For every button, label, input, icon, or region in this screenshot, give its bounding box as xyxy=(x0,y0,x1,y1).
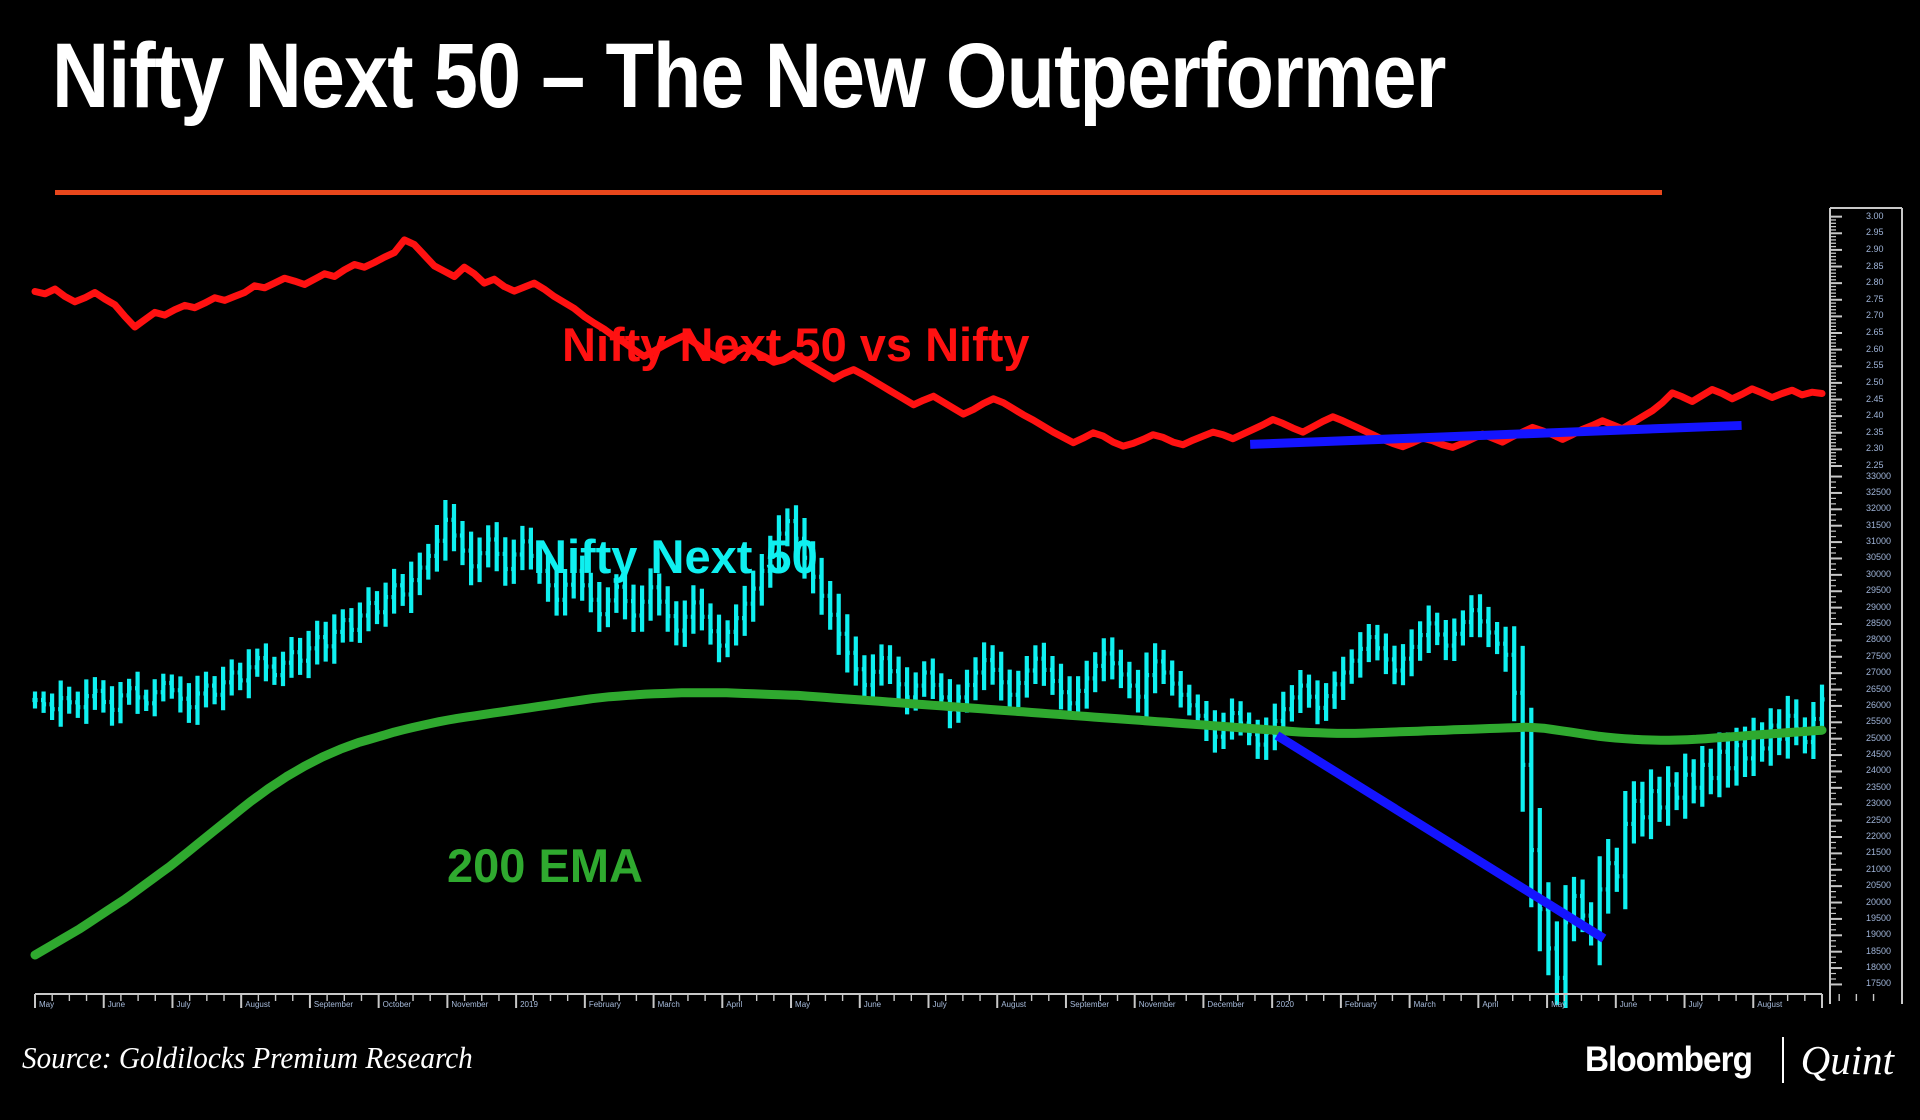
y-axis-tick-label: 26500 xyxy=(1866,684,1891,694)
y-axis-tick-label: 2.80 xyxy=(1866,277,1884,287)
index-series-label: Nifty Next 50 xyxy=(533,529,818,584)
y-axis-tick-label: 29500 xyxy=(1866,585,1891,595)
x-axis-tick-label: August xyxy=(1001,1000,1026,1009)
y-axis-tick-label: 21000 xyxy=(1866,864,1891,874)
y-axis-tick-label: 2.25 xyxy=(1866,460,1884,470)
y-axis-tick-label: 2.95 xyxy=(1866,227,1884,237)
y-axis-tick-label: 2.30 xyxy=(1866,443,1884,453)
x-axis-tick-label: July xyxy=(1689,1000,1703,1009)
y-axis-tick-label: 31500 xyxy=(1866,520,1891,530)
x-axis-tick-label: October xyxy=(383,1000,411,1009)
y-axis-tick-label: 21500 xyxy=(1866,847,1891,857)
x-axis-tick-label: July xyxy=(933,1000,947,1009)
x-axis-tick-label: May xyxy=(39,1000,54,1009)
x-axis-tick-label: 2020 xyxy=(1276,1000,1294,1009)
y-axis-tick-label: 19500 xyxy=(1866,913,1891,923)
x-axis-tick-label: November xyxy=(1139,1000,1176,1009)
y-axis-tick-label: 26000 xyxy=(1866,700,1891,710)
y-axis-tick-label: 22500 xyxy=(1866,815,1891,825)
x-axis-tick-label: April xyxy=(726,1000,742,1009)
y-axis-tick-label: 31000 xyxy=(1866,536,1891,546)
x-axis-tick-label: June xyxy=(864,1000,881,1009)
y-axis-tick-label: 2.55 xyxy=(1866,360,1884,370)
logo-separator xyxy=(1782,1037,1784,1083)
title-divider xyxy=(55,190,1662,195)
y-axis-tick-label: 24500 xyxy=(1866,749,1891,759)
y-axis-tick-label: 24000 xyxy=(1866,765,1891,775)
x-axis-tick-label: June xyxy=(108,1000,125,1009)
y-axis-tick-label: 32500 xyxy=(1866,487,1891,497)
page-title: Nifty Next 50 – The New Outperformer xyxy=(52,28,1446,124)
source-caption: Source: Goldilocks Premium Research xyxy=(22,1040,473,1076)
y-axis-tick-label: 20500 xyxy=(1866,880,1891,890)
x-axis-tick-label: September xyxy=(1070,1000,1109,1009)
y-axis-tick-label: 2.75 xyxy=(1866,294,1884,304)
y-axis-tick-label: 25500 xyxy=(1866,716,1891,726)
y-axis-tick-label: 25000 xyxy=(1866,733,1891,743)
y-axis-tick-label: 2.35 xyxy=(1866,427,1884,437)
y-axis-tick-label: 19000 xyxy=(1866,929,1891,939)
y-axis-tick-label: 2.90 xyxy=(1866,244,1884,254)
x-axis-tick-label: February xyxy=(1345,1000,1377,1009)
x-axis-tick-label: November xyxy=(451,1000,488,1009)
y-axis-tick-label: 2.50 xyxy=(1866,377,1884,387)
y-axis-tick-label: 30500 xyxy=(1866,552,1891,562)
x-axis-tick-label: June xyxy=(1620,1000,1637,1009)
y-axis-tick-label: 28500 xyxy=(1866,618,1891,628)
y-axis-tick-label: 29000 xyxy=(1866,602,1891,612)
ema-series-label: 200 EMA xyxy=(447,838,643,893)
y-axis-tick-label: 18000 xyxy=(1866,962,1891,972)
x-axis-tick-label: December xyxy=(1207,1000,1244,1009)
quint-wordmark: Quint xyxy=(1801,1036,1894,1084)
x-axis-tick-label: July xyxy=(176,1000,190,1009)
y-axis-tick-label: 2.40 xyxy=(1866,410,1884,420)
y-axis-tick-label: 2.70 xyxy=(1866,310,1884,320)
bloomberg-quint-logo: Bloomberg Quint xyxy=(1585,1038,1894,1082)
x-axis-tick-label: May xyxy=(795,1000,810,1009)
y-axis-tick-label: 32000 xyxy=(1866,503,1891,513)
y-axis-tick-label: 33000 xyxy=(1866,471,1891,481)
y-axis-tick-label: 22000 xyxy=(1866,831,1891,841)
x-axis-tick-label: May xyxy=(1551,1000,1566,1009)
x-axis-tick-label: April xyxy=(1482,1000,1498,1009)
y-axis-tick-label: 2.45 xyxy=(1866,394,1884,404)
x-axis-tick-label: September xyxy=(314,1000,353,1009)
y-axis-tick-label: 27500 xyxy=(1866,651,1891,661)
y-axis-tick-label: 23500 xyxy=(1866,782,1891,792)
y-axis-tick-label: 23000 xyxy=(1866,798,1891,808)
x-axis-tick-label: March xyxy=(1414,1000,1436,1009)
y-axis-tick-label: 20000 xyxy=(1866,897,1891,907)
y-axis-tick-label: 17500 xyxy=(1866,978,1891,988)
ratio-series-label: Nifty Next 50 vs Nifty xyxy=(562,317,1030,372)
y-axis-tick-label: 2.60 xyxy=(1866,344,1884,354)
chart-page: Nifty Next 50 – The New Outperformer Nif… xyxy=(0,0,1920,1120)
bloomberg-wordmark: Bloomberg xyxy=(1585,1040,1752,1080)
y-axis-tick-label: 28000 xyxy=(1866,634,1891,644)
y-axis-tick-label: 30000 xyxy=(1866,569,1891,579)
y-axis-tick-label: 2.65 xyxy=(1866,327,1884,337)
x-axis-tick-label: August xyxy=(245,1000,270,1009)
x-axis-tick-label: March xyxy=(658,1000,680,1009)
y-axis-tick-label: 3.00 xyxy=(1866,211,1884,221)
x-axis-tick-label: August xyxy=(1757,1000,1782,1009)
x-axis-tick-label: February xyxy=(589,1000,621,1009)
y-axis-tick-label: 2.85 xyxy=(1866,261,1884,271)
y-axis-tick-label: 27000 xyxy=(1866,667,1891,677)
x-axis-tick-label: 2019 xyxy=(520,1000,538,1009)
y-axis-tick-label: 18500 xyxy=(1866,946,1891,956)
